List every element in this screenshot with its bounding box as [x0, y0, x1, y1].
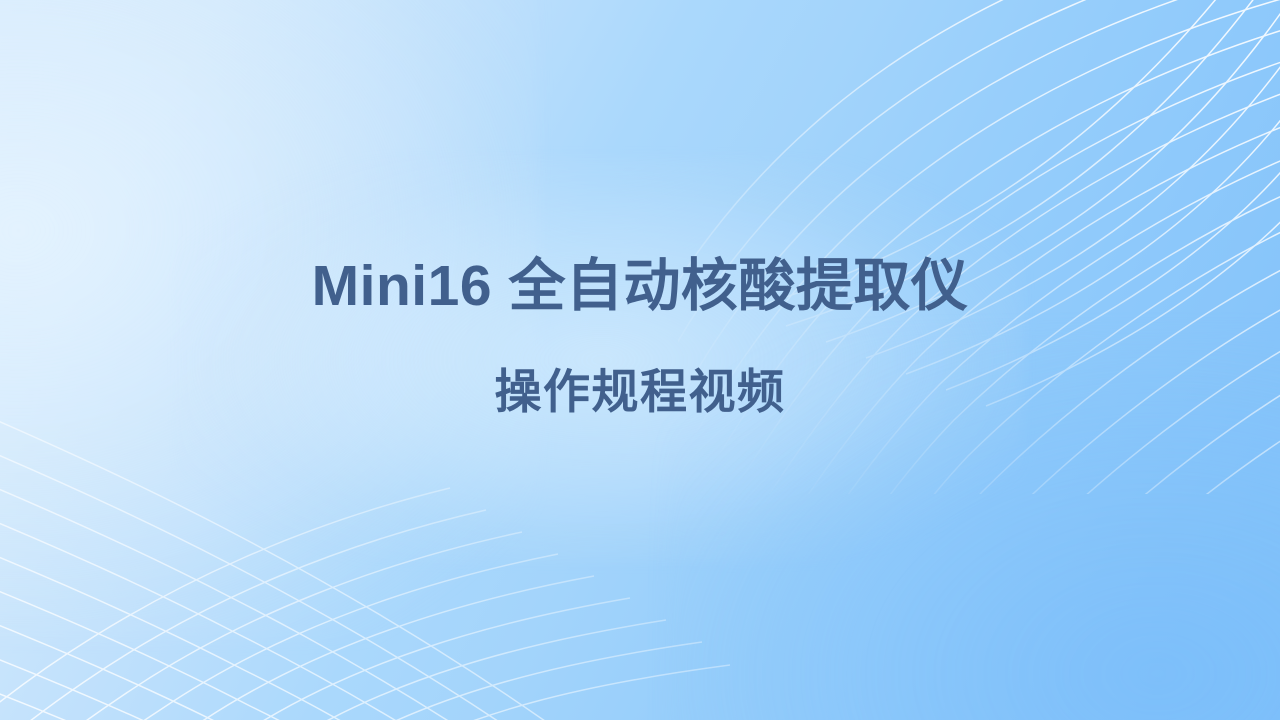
- title-slide: Mini16 全自动核酸提取仪 操作规程视频: [0, 0, 1280, 720]
- page-title: Mini16 全自动核酸提取仪: [0, 253, 1280, 320]
- page-subtitle: 操作规程视频: [0, 320, 1280, 420]
- headline-block: Mini16 全自动核酸提取仪 操作规程视频: [0, 253, 1280, 421]
